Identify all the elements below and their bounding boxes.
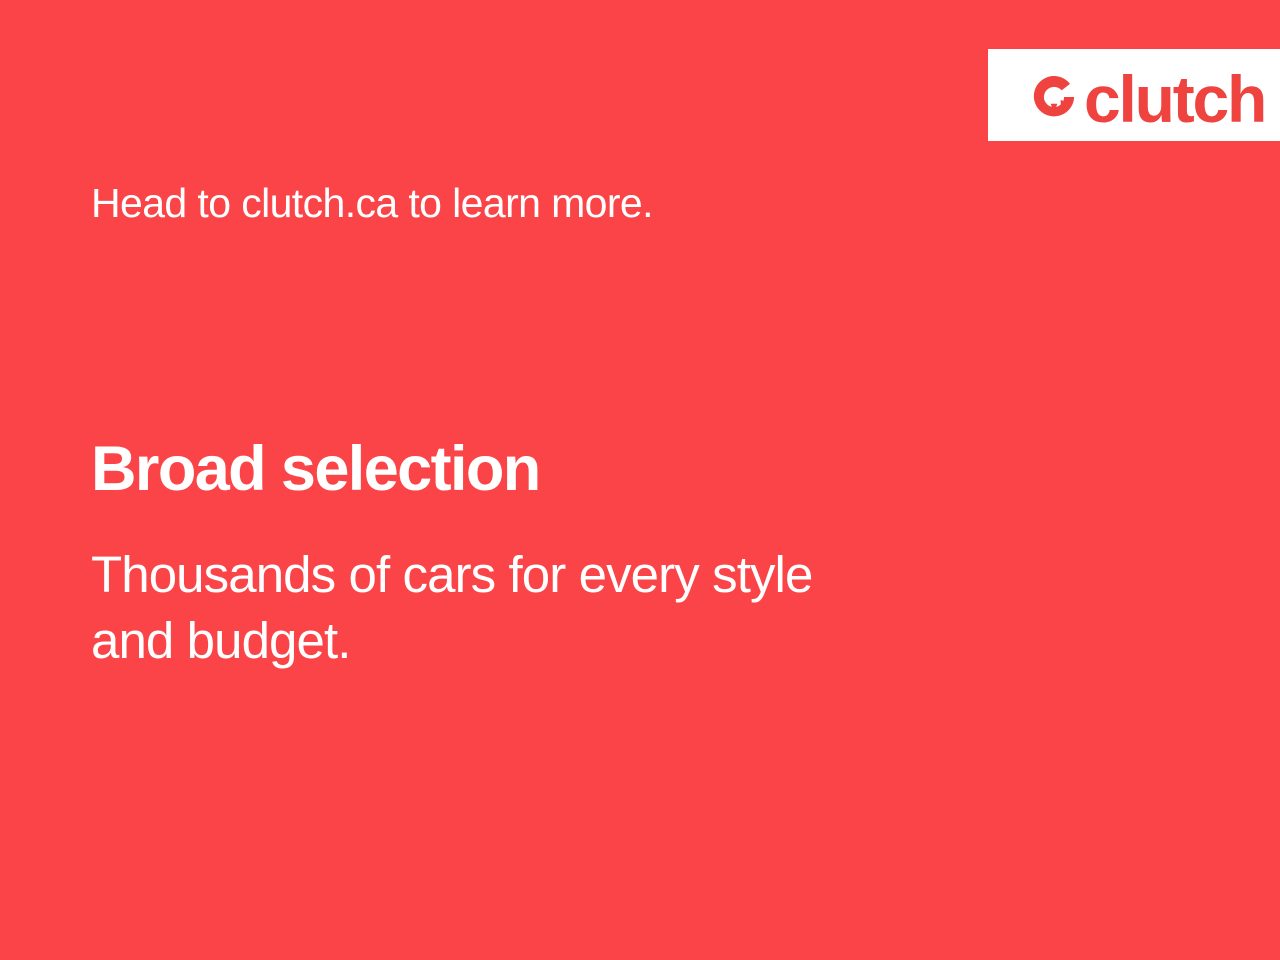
clutch-logo-lockup[interactable]: clutch bbox=[1026, 64, 1265, 126]
subheading-line-1: Thousands of cars for every style bbox=[91, 542, 1051, 608]
subheading: Thousands of cars for every style and bu… bbox=[91, 542, 1051, 675]
subheading-line-2: and budget. bbox=[91, 608, 1051, 674]
page-title: Broad selection bbox=[91, 434, 540, 505]
promo-slide: clutch Head to clutch.ca to learn more. … bbox=[0, 0, 1280, 960]
clutch-logo-plate: clutch bbox=[988, 49, 1280, 141]
eyebrow-text: Head to clutch.ca to learn more. bbox=[91, 180, 653, 227]
clutch-wordmark: clutch bbox=[1084, 72, 1265, 126]
clutch-c-mark-icon bbox=[1026, 69, 1082, 125]
